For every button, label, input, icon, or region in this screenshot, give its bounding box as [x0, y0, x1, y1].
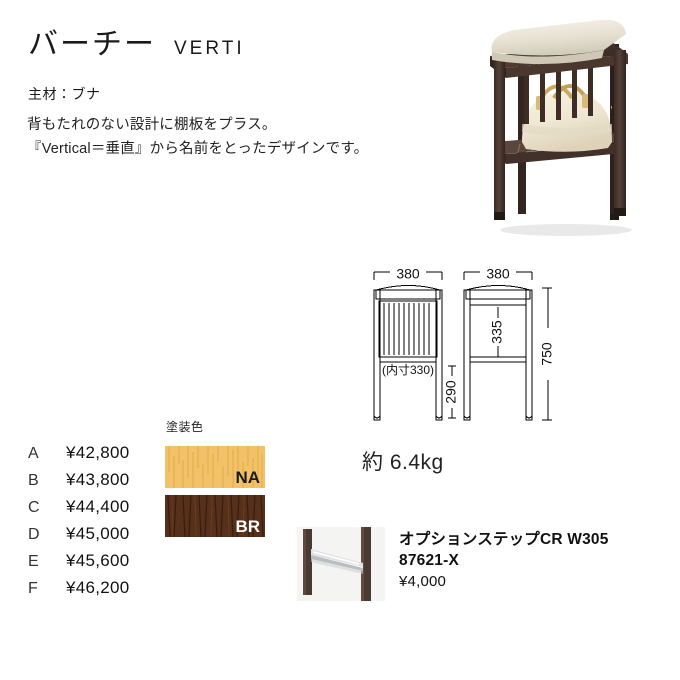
- price-value: ¥45,000: [66, 524, 130, 544]
- description-line-2: 『Vertical＝垂直』から名前をとったデザインです。: [27, 137, 368, 161]
- product-weight: 約 6.4kg: [362, 446, 444, 476]
- finish-label: 塗装色: [166, 418, 204, 435]
- option-info: オプションステップCR W305 87621-X ¥4,000: [399, 527, 609, 601]
- swatch-code: BR: [235, 518, 260, 535]
- option-product[interactable]: オプションステップCR W305 87621-X ¥4,000: [297, 527, 609, 601]
- price-grade: A: [28, 445, 66, 463]
- product-name-jp: バーチー: [28, 30, 156, 60]
- handbag: [522, 86, 618, 152]
- price-table: A ¥42,800 B ¥43,800 C ¥44,400 D ¥45,000 …: [28, 443, 130, 605]
- table-row: B ¥43,800: [28, 470, 130, 497]
- table-row: E ¥45,600: [28, 551, 130, 578]
- option-price: ¥4,000: [399, 571, 609, 593]
- dimension-drawing: 380 380 (内寸330) 335 290 750: [360, 258, 590, 426]
- option-thumbnail: [297, 527, 385, 601]
- price-value: ¥43,800: [66, 470, 130, 490]
- dim-side-width: 380: [486, 266, 510, 282]
- material-label: 主材：ブナ: [28, 84, 101, 104]
- price-value: ¥46,200: [66, 578, 130, 598]
- product-photo: [462, 2, 678, 240]
- dim-shelf-gap: 335: [489, 320, 505, 344]
- finish-swatches: NA BR: [165, 446, 265, 537]
- swatch-code: NA: [235, 469, 260, 486]
- swatch-br[interactable]: BR: [165, 495, 265, 537]
- table-row: D ¥45,000: [28, 524, 130, 551]
- table-row: F ¥46,200: [28, 578, 130, 605]
- price-grade: C: [28, 499, 66, 517]
- price-value: ¥44,400: [66, 497, 130, 517]
- dim-front-width: 380: [396, 266, 420, 282]
- dim-total-height: 750: [539, 342, 555, 366]
- price-value: ¥42,800: [66, 443, 130, 463]
- page-title: バーチー VERTI: [28, 30, 245, 60]
- table-row: A ¥42,800: [28, 443, 130, 470]
- product-name-en: VERTI: [174, 38, 245, 60]
- description-line-1: 背もたれのない設計に棚板をプラス。: [27, 113, 368, 137]
- product-description: 背もたれのない設計に棚板をプラス。 『Vertical＝垂直』から名前をとったデ…: [27, 113, 368, 161]
- price-grade: E: [28, 553, 66, 571]
- price-grade: F: [28, 580, 66, 598]
- swatch-na[interactable]: NA: [165, 446, 265, 488]
- price-value: ¥45,600: [66, 551, 130, 571]
- option-code: 87621-X: [399, 550, 609, 571]
- option-step-illustration: [297, 527, 385, 601]
- table-row: C ¥44,400: [28, 497, 130, 524]
- price-grade: D: [28, 526, 66, 544]
- dim-inner-width: (内寸330): [382, 363, 434, 377]
- technical-drawing: 380 380 (内寸330) 335 290 750: [360, 258, 590, 426]
- product-photo-illustration: [462, 2, 678, 240]
- product-spec-page: バーチー VERTI 主材：ブナ 背もたれのない設計に棚板をプラス。 『Vert…: [0, 0, 680, 680]
- price-grade: B: [28, 472, 66, 490]
- option-name: オプションステップCR W305: [399, 529, 609, 550]
- dim-leg-clearance: 290: [443, 380, 459, 404]
